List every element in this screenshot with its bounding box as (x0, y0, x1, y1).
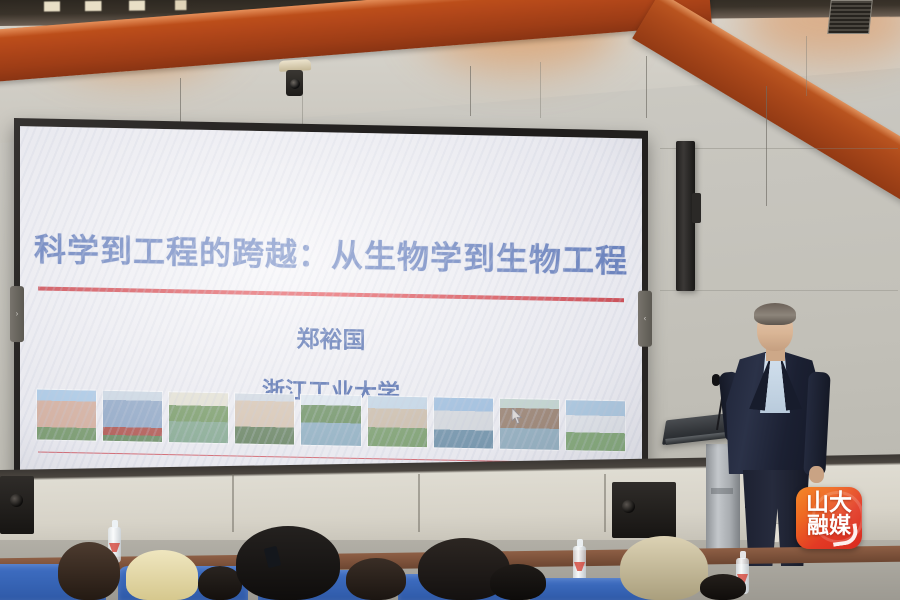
audience-head (236, 526, 340, 600)
slide-photo (565, 399, 626, 452)
audience-head (700, 574, 746, 600)
presenter-hand (809, 466, 824, 483)
slide-photo-strip (36, 388, 626, 450)
slide-photo (300, 394, 361, 447)
suspension-wire (470, 66, 471, 116)
wall-seam (806, 36, 807, 96)
ceiling-lights (30, 0, 260, 12)
watermark-swoosh-icon (831, 523, 860, 546)
presentation-slide: 科学到工程的跨越：从生物学到生物工程 郑裕国 浙江工业大学 (20, 126, 642, 486)
presenter-hair (754, 303, 796, 325)
floor-speaker-right (612, 482, 676, 538)
wall-seam (540, 62, 541, 118)
slide-photo (36, 388, 97, 441)
stage-wall-seam (418, 474, 420, 532)
floor-speaker-left (0, 476, 34, 534)
suspension-wire (766, 86, 767, 206)
wall-seam (660, 148, 898, 149)
wall-column-speaker (676, 141, 695, 291)
lecture-hall-scene: 科学到工程的跨越：从生物学到生物工程 郑裕国 浙江工业大学 (0, 0, 900, 600)
slide-photo (168, 391, 229, 444)
screen-side-tab-left[interactable]: › (10, 286, 24, 342)
slide-photo (433, 396, 494, 449)
audience-head-with-cap (126, 550, 198, 600)
wall-seam (660, 290, 898, 291)
slide-divider-rule (38, 286, 624, 302)
screen-side-tab-right[interactable]: ‹ (638, 291, 652, 347)
audience-head (346, 558, 406, 600)
stage-wall-seam (604, 474, 606, 532)
slide-photo (499, 398, 560, 451)
slide-photo (102, 390, 163, 443)
projection-screen[interactable]: 科学到工程的跨越：从生物学到生物工程 郑裕国 浙江工业大学 (20, 126, 642, 486)
audience-head-light-hair (620, 536, 708, 600)
camera-lens-icon (290, 79, 300, 89)
slide-speaker-name: 郑裕国 (20, 314, 642, 360)
water-bottle (573, 546, 586, 582)
broadcaster-watermark-logo: 山大 融媒 (796, 487, 862, 549)
slide-photo (234, 392, 295, 445)
slide-title: 科学到工程的跨越：从生物学到生物工程 (20, 224, 642, 282)
suspension-wire (646, 56, 647, 118)
audience-head (490, 564, 546, 600)
stage-wall-seam (232, 474, 234, 532)
air-vent-grille (827, 0, 873, 34)
slide-photo (367, 395, 428, 448)
watermark-line-1: 山大 (806, 490, 852, 516)
audience-head (58, 542, 120, 600)
projection-screen-frame: 科学到工程的跨越：从生物学到生物工程 郑裕国 浙江工业大学 (14, 118, 648, 497)
suspension-wire (180, 78, 181, 124)
